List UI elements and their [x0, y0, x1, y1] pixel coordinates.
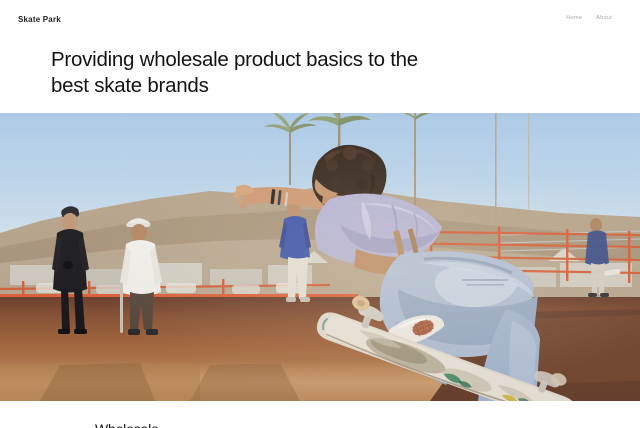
site-header: Skate Park Home About — [0, 0, 640, 38]
hero-image — [0, 113, 640, 401]
main-navigation: Home About — [566, 16, 622, 22]
nav-link-about[interactable]: About — [596, 16, 612, 22]
skateboard — [0, 113, 640, 401]
nav-link-home[interactable]: Home — [566, 16, 582, 22]
page-title: Providing wholesale product basics to th… — [51, 47, 451, 98]
next-section-heading: Wholesale — [95, 421, 159, 428]
site-logo[interactable]: Skate Park — [18, 15, 61, 24]
hero-copy: Providing wholesale product basics to th… — [0, 38, 640, 98]
below-fold-section: Wholesale — [0, 401, 640, 427]
